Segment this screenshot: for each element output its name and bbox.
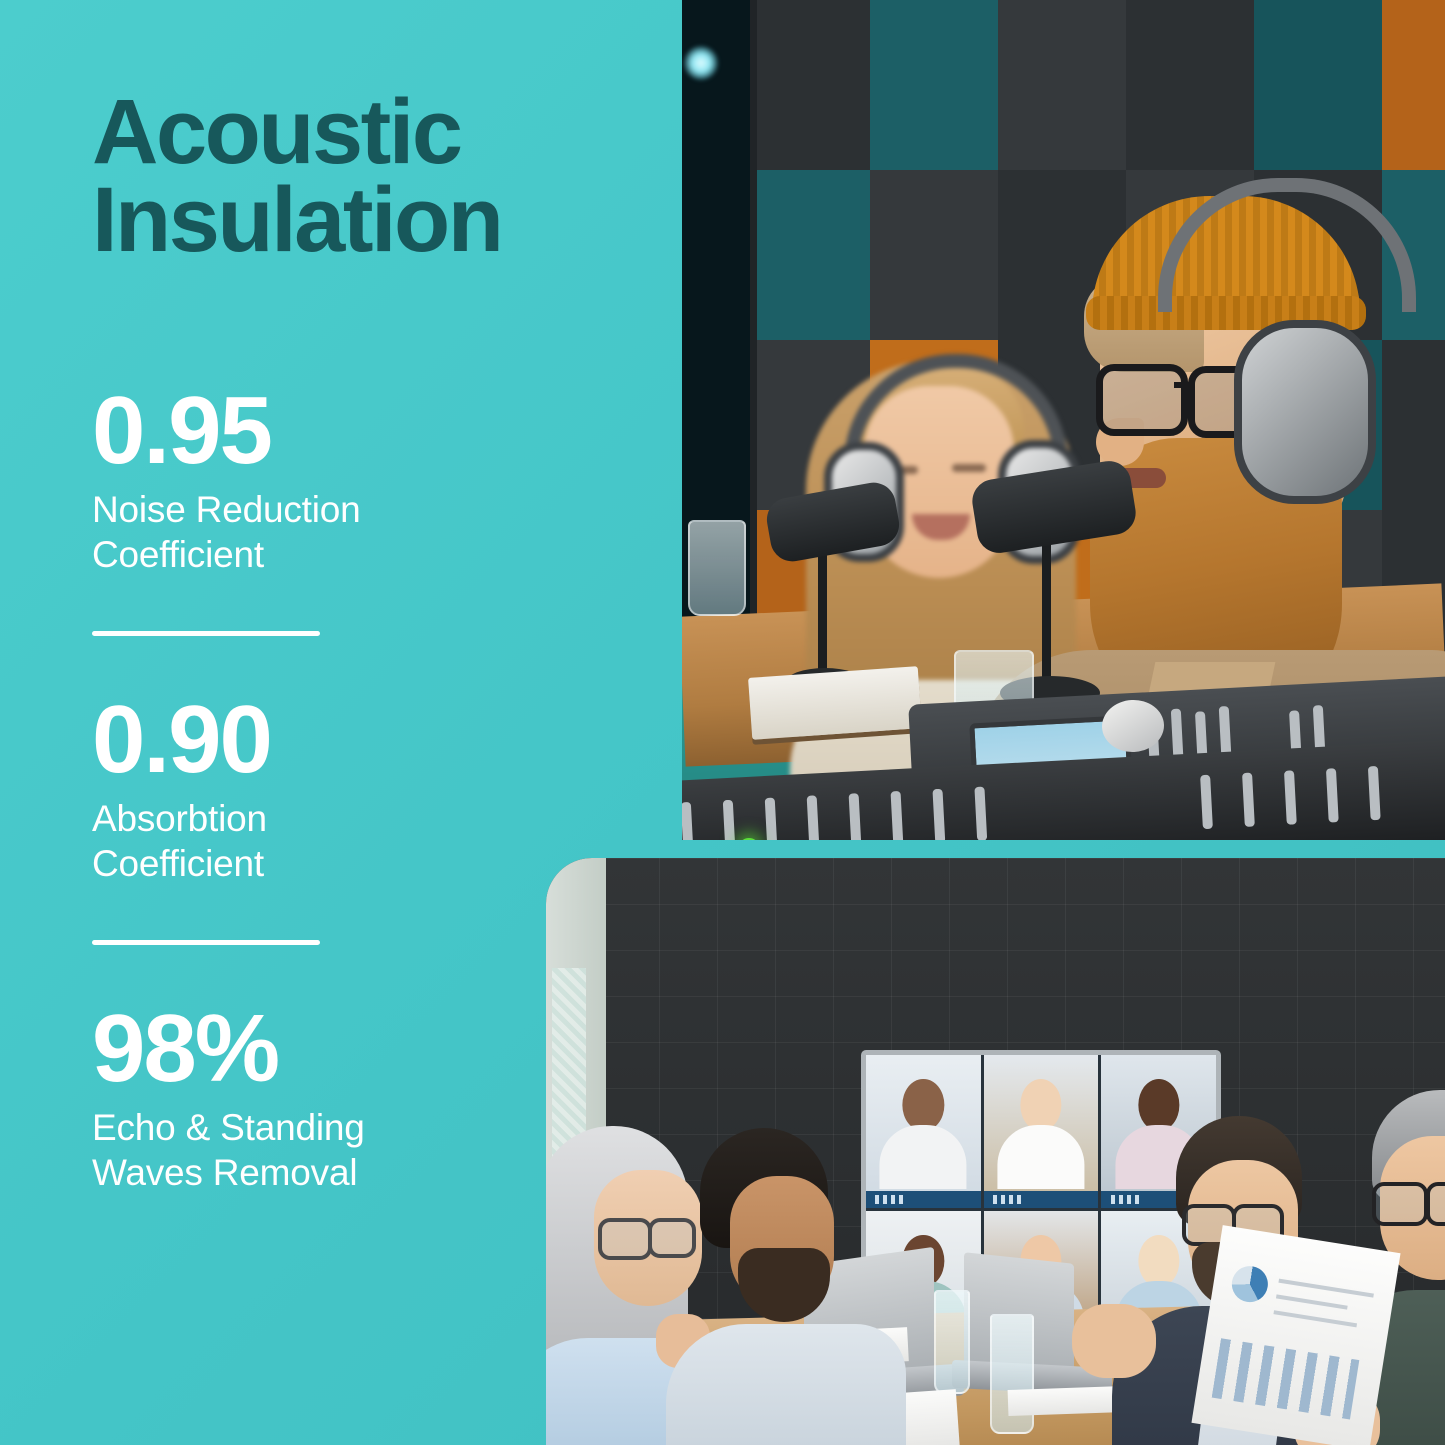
stat-item: 0.90 Absorbtion Coefficient [92, 692, 660, 886]
notebook [748, 666, 922, 740]
water-glass [990, 1314, 1034, 1434]
stat-value: 0.95 [92, 383, 660, 479]
stat-value: 0.90 [92, 692, 660, 788]
headphone-cup [1234, 320, 1376, 504]
stat-item: 0.95 Noise Reduction Coefficient [92, 383, 660, 577]
participant-tile [984, 1055, 1099, 1208]
report-with-charts [1191, 1225, 1400, 1445]
page-title: Acoustic Insulation [92, 88, 660, 265]
acoustic-insulation-poster: Acoustic Insulation 0.95 Noise Reduction… [0, 0, 1445, 1445]
attendee-dark-hair [686, 1128, 886, 1445]
conference-room-photo [546, 858, 1445, 1445]
water-glass [934, 1290, 970, 1394]
water-glass [688, 520, 746, 616]
notepad [1008, 1386, 1125, 1416]
stat-divider [92, 940, 320, 945]
stat-label: Noise Reduction Coefficient [92, 487, 660, 577]
stat-divider [92, 631, 320, 636]
studio-light [684, 46, 718, 80]
podcast-studio-photo [682, 0, 1445, 840]
